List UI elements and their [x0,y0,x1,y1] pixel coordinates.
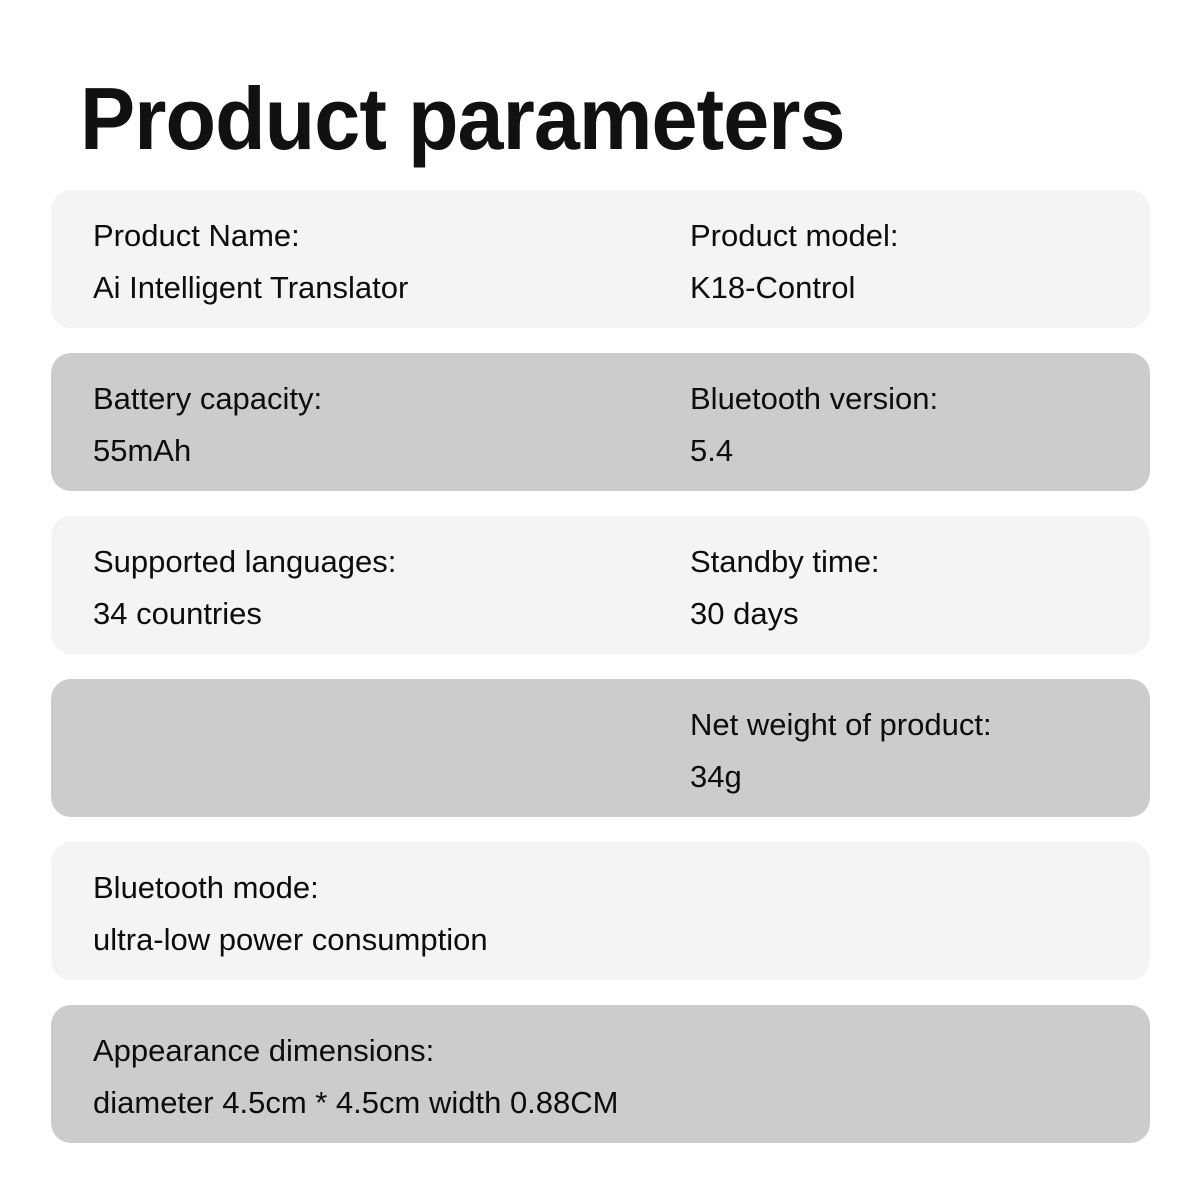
spec-value: 34g [690,751,1150,803]
spec-value: diameter 4.5cm * 4.5cm width 0.88CM [93,1077,690,1129]
table-row: Product Name: Ai Intelligent Translator … [51,190,1150,328]
spec-cell-standby-time: Standby time: 30 days [690,536,1150,640]
spec-table: Product Name: Ai Intelligent Translator … [51,190,1150,1143]
spec-value: 30 days [690,588,1150,640]
spec-label: Supported languages: [93,536,690,588]
spec-value: 55mAh [93,425,690,477]
spec-cell-supported-languages: Supported languages: 34 countries [51,536,690,640]
table-row: Battery capacity: 55mAh Bluetooth versio… [51,353,1150,491]
spec-label: Product model: [690,210,1150,262]
spec-value: ultra-low power consumption [93,914,690,966]
spec-label: Bluetooth mode: [93,862,690,914]
table-row: Bluetooth mode: ultra-low power consumpt… [51,842,1150,980]
spec-label: Standby time: [690,536,1150,588]
spec-cell-product-model: Product model: K18-Control [690,210,1150,314]
spec-cell-net-weight: Net weight of product: 34g [690,699,1150,803]
spec-value: 34 countries [93,588,690,640]
table-row: Supported languages: 34 countries Standb… [51,516,1150,654]
spec-value: Ai Intelligent Translator [93,262,690,314]
spec-cell-product-name: Product Name: Ai Intelligent Translator [51,210,690,314]
spec-label: Battery capacity: [93,373,690,425]
spec-label: Bluetooth version: [690,373,1150,425]
spec-cell-battery-capacity: Battery capacity: 55mAh [51,373,690,477]
spec-cell-bluetooth-version: Bluetooth version: 5.4 [690,373,1150,477]
spec-label: Appearance dimensions: [93,1025,690,1077]
spec-value: K18-Control [690,262,1150,314]
page-title: Product parameters [80,67,845,171]
table-row: Appearance dimensions: diameter 4.5cm * … [51,1005,1150,1143]
spec-cell-bluetooth-mode: Bluetooth mode: ultra-low power consumpt… [51,862,690,966]
spec-label: Net weight of product: [690,699,1150,751]
table-row: Net weight of product: 34g [51,679,1150,817]
spec-cell-appearance-dimensions: Appearance dimensions: diameter 4.5cm * … [51,1025,690,1129]
spec-value: 5.4 [690,425,1150,477]
spec-label: Product Name: [93,210,690,262]
